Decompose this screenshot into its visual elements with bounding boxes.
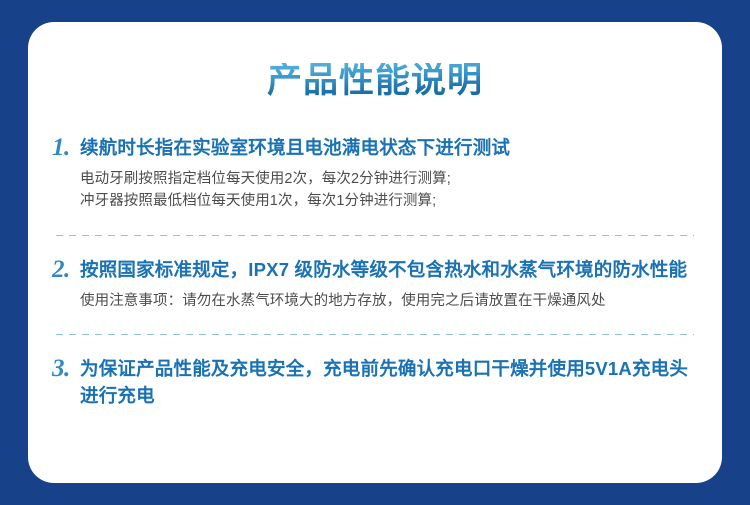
list-item-1-subtext-line-1: 电动牙刷按照指定档位每天使用2次，每次2分钟进行测算;: [80, 168, 698, 190]
page-title: 产品性能说明: [267, 63, 483, 98]
list-item-2-head: 2. 按照国家标准规定，IPX7 级防水等级不包含热水和水蒸气环境的防水性能: [52, 256, 698, 283]
list-item-3-heading: 为保证产品性能及充电安全，充电前先确认充电口干燥并使用5V1A充电头进行充电: [80, 355, 698, 409]
list-item-3-head: 3. 为保证产品性能及充电安全，充电前先确认充电口干燥并使用5V1A充电头进行充…: [52, 355, 698, 409]
content-card: 产品性能说明 1. 续航时长指在实验室环境且电池满电状态下进行测试 电动牙刷按照…: [28, 22, 722, 483]
list-item-1-number: 1.: [52, 134, 80, 161]
list-item-1-head: 1. 续航时长指在实验室环境且电池满电状态下进行测试: [52, 134, 698, 161]
spacer-4: [52, 335, 698, 355]
list-item-2-number: 2.: [52, 256, 80, 283]
list-item-1-subtext-line-2: 冲牙器按照最低档位每天使用1次，每次1分钟进行测算;: [80, 190, 698, 212]
list-item-2-subtext-line-1: 使用注意事项：请勿在水蒸气环境大的地方存放，使用完之后请放置在干燥通风处: [80, 290, 698, 312]
spacer-2: [52, 236, 698, 256]
page-title-wrapper: 产品性能说明: [28, 63, 722, 98]
list-item-2: 2. 按照国家标准规定，IPX7 级防水等级不包含热水和水蒸气环境的防水性能 使…: [52, 256, 698, 312]
performance-notes-list: 1. 续航时长指在实验室环境且电池满电状态下进行测试 电动牙刷按照指定档位每天使…: [52, 134, 698, 409]
list-item-3-number: 3.: [52, 355, 80, 382]
list-item-1-heading: 续航时长指在实验室环境且电池满电状态下进行测试: [80, 134, 698, 161]
list-item-2-heading: 按照国家标准规定，IPX7 级防水等级不包含热水和水蒸气环境的防水性能: [80, 256, 698, 283]
list-item-1: 1. 续航时长指在实验室环境且电池满电状态下进行测试 电动牙刷按照指定档位每天使…: [52, 134, 698, 212]
list-item-2-subtext: 使用注意事项：请勿在水蒸气环境大的地方存放，使用完之后请放置在干燥通风处: [80, 290, 698, 312]
spacer-3: [52, 312, 698, 334]
spacer-1: [52, 212, 698, 235]
list-item-3: 3. 为保证产品性能及充电安全，充电前先确认充电口干燥并使用5V1A充电头进行充…: [52, 355, 698, 409]
page-background: 产品性能说明 1. 续航时长指在实验室环境且电池满电状态下进行测试 电动牙刷按照…: [0, 0, 750, 505]
list-item-1-subtext: 电动牙刷按照指定档位每天使用2次，每次2分钟进行测算; 冲牙器按照最低档位每天使…: [80, 168, 698, 212]
